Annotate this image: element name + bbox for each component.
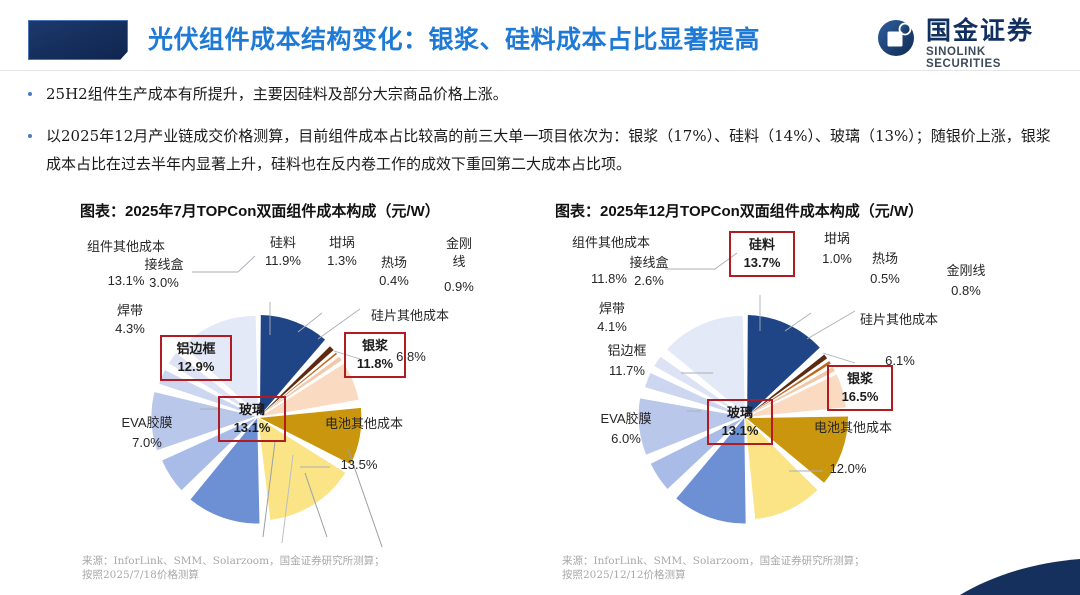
label-ribbon-val-july: 4.3%: [100, 321, 160, 337]
logo-name-cn: 国金证券: [926, 16, 1034, 46]
label-hotfield-july: 热场: [370, 255, 418, 271]
source-note-december: 来源：InforLink、SMM、Solarzoom，国金证券研究所测算； 按照…: [562, 554, 1022, 582]
label-silver-december: 银浆: [827, 370, 893, 387]
corner-decoration: [960, 559, 1080, 595]
label-silicon-july: 硅料: [252, 235, 314, 251]
label-cell-other-december: 电池其他成本: [807, 417, 899, 439]
label-diamondwire-val-december: 0.8%: [933, 283, 999, 299]
chart-panel-july: 图表：2025年7月TOPCon双面组件成本构成（元/W）: [60, 200, 560, 580]
label-hotfield-val-december: 0.5%: [855, 271, 915, 287]
label-silver-val-july: 11.8%: [344, 355, 406, 372]
pie-plot-july: 组件其他成本 13.1% 接线盒 3.0% 焊带 4.3% 硅料 11.9% 坩…: [60, 227, 560, 547]
label-ribbon-december: 焊带: [581, 301, 643, 317]
label-frame-val-december: 11.7%: [591, 363, 663, 379]
label-eva-val-july: 7.0%: [108, 435, 186, 451]
label-module-other-name-july: 组件其他成本: [87, 239, 165, 254]
header-accent-block: [28, 20, 128, 60]
label-cell-other-val-july: 13.5%: [328, 457, 390, 473]
label-glass-july: 玻璃: [218, 401, 286, 418]
label-module-other-july: 组件其他成本: [86, 239, 166, 255]
label-ribbon-val-december: 4.1%: [581, 319, 643, 335]
label-cell-other-july: 电池其他成本: [318, 413, 410, 435]
label-crucible-december: 坩埚: [813, 231, 861, 247]
bullet-list: 25H2组件生产成本有所提升，主要因硅料及部分大宗商品价格上涨。 以2025年1…: [18, 80, 1058, 192]
label-diamondwire-july: 金刚线: [440, 235, 478, 271]
label-glass-val-july: 13.1%: [218, 419, 286, 436]
label-crucible-july: 坩埚: [318, 235, 366, 251]
bullet-item-1: 25H2组件生产成本有所提升，主要因硅料及部分大宗商品价格上涨。: [18, 80, 1058, 108]
chart-panel-december: 图表：2025年12月TOPCon双面组件成本构成（元/W）: [555, 200, 1055, 580]
label-silicon-december: 硅料: [729, 236, 795, 253]
page-title: 光伏组件成本结构变化：银浆、硅料成本占比显著提高: [148, 20, 760, 60]
label-frame-december: 铝边框: [591, 343, 663, 359]
header-divider: [0, 70, 1080, 71]
label-hotfield-december: 热场: [861, 251, 909, 267]
label-eva-july: EVA胶膜: [108, 415, 186, 431]
source-note-july: 来源：InforLink、SMM、Solarzoom，国金证券研究所测算； 按照…: [82, 554, 542, 582]
label-jbox-december: 接线盒: [617, 255, 681, 271]
label-hotfield-val-july: 0.4%: [364, 273, 424, 289]
label-silicon-val-july: 11.9%: [246, 253, 320, 269]
bullet-item-2: 以2025年12月产业链成交价格测算，目前组件成本占比较高的前三大单一项目依次为…: [18, 122, 1058, 178]
label-frame-july: 铝边框: [160, 340, 232, 357]
label-eva-december: EVA胶膜: [585, 411, 667, 427]
label-jbox-val-july: 3.0%: [132, 275, 196, 291]
label-silver-july: 银浆: [344, 337, 406, 354]
label-diamondwire-december: 金刚线: [933, 263, 999, 279]
chart-title-july: 图表：2025年7月TOPCon双面组件成本构成（元/W）: [60, 200, 560, 221]
label-jbox-july: 接线盒: [132, 257, 196, 273]
label-ribbon-july: 焊带: [100, 303, 160, 319]
logo-name-en: SINOLINK SECURITIES: [926, 46, 1056, 70]
label-cell-other-val-december: 12.0%: [817, 461, 879, 477]
label-glass-val-december: 13.1%: [707, 422, 773, 439]
pie-plot-december: 组件其他成本 11.8% 接线盒 2.6% 焊带 4.1% 铝边框 11.7% …: [555, 227, 1055, 547]
company-logo: 国金证券 SINOLINK SECURITIES: [876, 16, 1056, 64]
label-glass-december: 玻璃: [707, 404, 773, 421]
label-module-other-december: 组件其他成本: [569, 235, 653, 251]
label-eva-val-december: 6.0%: [585, 431, 667, 447]
label-silicon-val-december: 13.7%: [729, 254, 795, 271]
label-silver-val-december: 16.5%: [827, 388, 893, 405]
label-frame-val-july: 12.9%: [160, 358, 232, 375]
label-wafer-other-july: 硅片其他成本: [366, 305, 454, 327]
label-crucible-val-december: 1.0%: [807, 251, 867, 267]
label-crucible-val-july: 1.3%: [312, 253, 372, 269]
slide-header: 光伏组件成本结构变化：银浆、硅料成本占比显著提高 国金证券 SINOLINK S…: [0, 0, 1080, 72]
label-wafer-other-december: 硅片其他成本: [855, 309, 943, 331]
chart-title-december: 图表：2025年12月TOPCon双面组件成本构成（元/W）: [555, 200, 1055, 221]
sinolink-logo-icon: [876, 18, 916, 58]
label-diamondwire-val-july: 0.9%: [428, 279, 490, 295]
label-jbox-val-december: 2.6%: [617, 273, 681, 289]
